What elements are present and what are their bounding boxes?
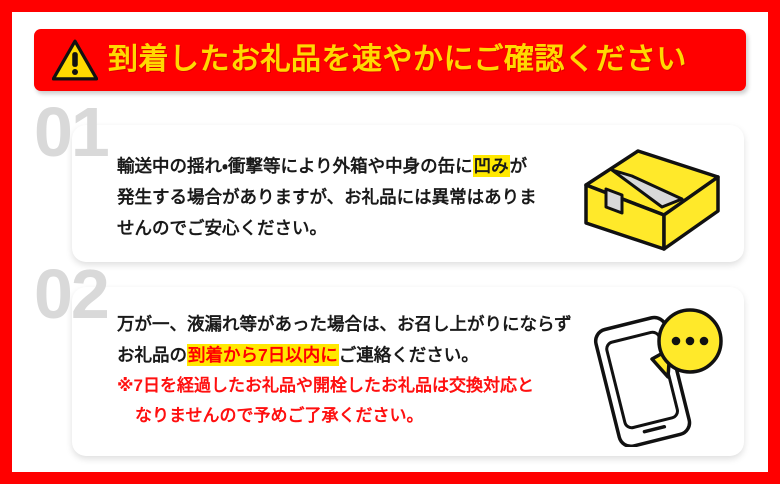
text-segment: お礼品の [117, 345, 187, 365]
card-01-line-3: せんのでご安心ください。 [117, 213, 617, 244]
smartphone-message-icon [588, 297, 730, 447]
card-02-text: 万が一、液漏れ等があった場合は、お召し上がりにならず お礼品の到着から7日以内に… [117, 309, 617, 431]
card-01-line-1: 輸送中の揺れ・衝撃等により外箱や中身の缶に凹みが [117, 151, 617, 182]
card-02-line-2: お礼品の到着から7日以内にご連絡ください。 [117, 340, 617, 371]
notice-card-01: 01 輸送中の揺れ・衝撃等により外箱や中身の缶に凹みが 発生する場合がありますが… [72, 125, 744, 262]
text-segment: が [510, 156, 528, 176]
page-frame: 到着したお礼品を速やかにご確認ください 01 輸送中の揺れ・衝撃等により外箱や中… [0, 0, 780, 484]
page-inner: 到着したお礼品を速やかにご確認ください 01 輸送中の揺れ・衝撃等により外箱や中… [12, 12, 768, 472]
text-segment: ご連絡ください。 [339, 345, 479, 365]
card-02-note-line-2: なりませんので予めご了承ください。 [117, 401, 617, 431]
card-01-text: 輸送中の揺れ・衝撃等により外箱や中身の缶に凹みが 発生する場合がありますが、お礼… [117, 151, 617, 244]
page-title: 到着したお礼品を速やかにご確認ください [108, 45, 687, 75]
notice-card-02: 02 万が一、液漏れ等があった場合は、お召し上がりにならず お礼品の到着から7日… [72, 287, 744, 456]
card-number-01: 01 [34, 97, 108, 167]
card-number-02: 02 [34, 259, 108, 329]
text-segment: 輸送中の揺れ・衝撃等により外箱や中身の缶に [117, 156, 473, 176]
card-02-line-1: 万が一、液漏れ等があった場合は、お召し上がりにならず [117, 309, 617, 340]
card-01-line-2: 発生する場合がありますが、お礼品には異常はありま [117, 182, 617, 213]
card-02-note-line-1: ※7日を経過したお礼品や開栓したお礼品は交換対応と [117, 371, 617, 401]
cardboard-box-icon [576, 137, 726, 255]
header-banner: 到着したお礼品を速やかにご確認ください [34, 29, 746, 91]
warning-triangle-icon [52, 39, 98, 81]
highlight-dent: 凹み [473, 155, 510, 177]
highlight-deadline: 到着から7日以内に [187, 344, 339, 366]
